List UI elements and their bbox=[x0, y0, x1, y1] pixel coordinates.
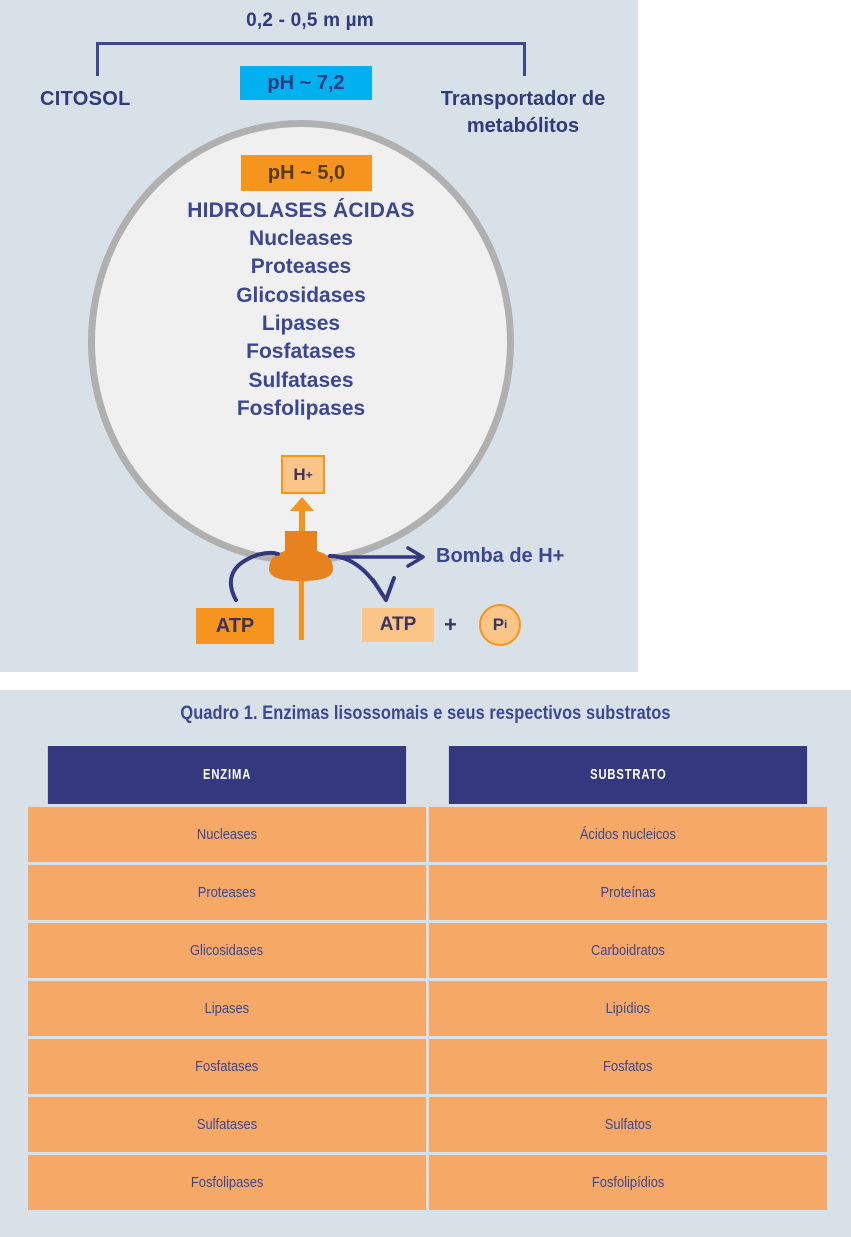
table-header-row: ENZIMA SUBSTRATO bbox=[28, 746, 827, 804]
scale-label: 0,2 - 0,5 m µm bbox=[0, 10, 620, 32]
cell-text: Lipases bbox=[205, 1000, 249, 1017]
pi-label: P bbox=[493, 615, 504, 635]
plus-sign: + bbox=[444, 612, 457, 638]
table-row: Fosfolipases Fosfolipídios bbox=[28, 1155, 827, 1210]
inorganic-phosphate-badge: Pi bbox=[479, 604, 521, 646]
enzyme-list-title: HIDROLASES ÁCIDAS bbox=[88, 197, 514, 225]
table-cell-substrato: Sulfatos bbox=[429, 1097, 827, 1152]
pi-subscript: i bbox=[504, 619, 507, 631]
table-cell-substrato: Ácidos nucleicos bbox=[429, 807, 827, 862]
cell-text: Proteases bbox=[198, 884, 256, 901]
cell-text: Carboidratos bbox=[591, 942, 665, 959]
enzyme-table-panel: Quadro 1. Enzimas lisossomais e seus res… bbox=[0, 690, 851, 1237]
enzyme-item-proteases: Proteases bbox=[88, 253, 514, 281]
enzyme-item-fosfolipases: Fosfolipases bbox=[88, 395, 514, 423]
table-cell-enzima: Lipases bbox=[28, 981, 426, 1036]
ph-cytosol-badge: pH ~ 7,2 bbox=[240, 66, 372, 100]
table-row: Proteases Proteínas bbox=[28, 865, 827, 920]
table-header-enzima-label: ENZIMA bbox=[203, 767, 251, 783]
proton-pump-label: Bomba de H+ bbox=[436, 545, 564, 568]
cell-text: Fosfolipídios bbox=[592, 1174, 664, 1191]
table-cell-enzima: Sulfatases bbox=[28, 1097, 426, 1152]
cell-text: Glicosidases bbox=[190, 942, 263, 959]
proton-charge: + bbox=[306, 468, 313, 482]
table-header-substrato: SUBSTRATO bbox=[449, 746, 807, 804]
cytosol-label: CITOSOL bbox=[40, 88, 131, 111]
enzyme-item-fosfatases: Fosfatases bbox=[88, 338, 514, 366]
table-header-enzima: ENZIMA bbox=[48, 746, 406, 804]
cell-text: Sulfatases bbox=[197, 1116, 257, 1133]
ph-lumen-badge: pH ~ 5,0 bbox=[241, 155, 372, 191]
cell-text: Ácidos nucleicos bbox=[580, 826, 676, 843]
enzyme-item-sulfatases: Sulfatases bbox=[88, 367, 514, 395]
table-cell-enzima: Glicosidases bbox=[28, 923, 426, 978]
table-cell-substrato: Lipídios bbox=[429, 981, 827, 1036]
cell-text: Lipídios bbox=[606, 1000, 650, 1017]
table-header-substrato-label: SUBSTRATO bbox=[590, 767, 666, 783]
enzyme-list: HIDROLASES ÁCIDAS Nucleases Proteases Gl… bbox=[88, 197, 514, 423]
enzyme-item-glicosidases: Glicosidases bbox=[88, 282, 514, 310]
table-row: Nucleases Ácidos nucleicos bbox=[28, 807, 827, 862]
table-cell-enzima: Proteases bbox=[28, 865, 426, 920]
atp-output-badge: ATP bbox=[362, 608, 434, 642]
cell-text: Fosfatos bbox=[603, 1058, 652, 1075]
cell-text: Nucleases bbox=[197, 826, 257, 843]
table-row: Glicosidases Carboidratos bbox=[28, 923, 827, 978]
table-cell-substrato: Proteínas bbox=[429, 865, 827, 920]
cell-text: Fosfolipases bbox=[191, 1174, 263, 1191]
table-caption: Quadro 1. Enzimas lisossomais e seus res… bbox=[68, 702, 783, 725]
enzyme-substrate-table: ENZIMA SUBSTRATO Nucleases Ácidos nuclei… bbox=[25, 743, 830, 1213]
table-row: Fosfatases Fosfatos bbox=[28, 1039, 827, 1094]
table-row: Lipases Lipídios bbox=[28, 981, 827, 1036]
table-cell-enzima: Nucleases bbox=[28, 807, 426, 862]
cell-text: Sulfatos bbox=[605, 1116, 652, 1133]
metabolite-transporter-label: Transportador de metabólitos bbox=[418, 86, 628, 140]
proton-pump-icon bbox=[269, 531, 333, 581]
proton-label: H bbox=[293, 465, 305, 485]
table-cell-enzima: Fosfolipases bbox=[28, 1155, 426, 1210]
cell-text: Proteínas bbox=[600, 884, 655, 901]
lysosome-diagram-panel: 0,2 - 0,5 m µm CITOSOL Transportador de … bbox=[0, 0, 638, 672]
table-cell-substrato: Fosfolipídios bbox=[429, 1155, 827, 1210]
table-cell-enzima: Fosfatases bbox=[28, 1039, 426, 1094]
atp-input-badge: ATP bbox=[196, 608, 274, 644]
proton-badge: H+ bbox=[281, 455, 325, 494]
enzyme-item-lipases: Lipases bbox=[88, 310, 514, 338]
table-cell-substrato: Carboidratos bbox=[429, 923, 827, 978]
enzyme-item-nucleases: Nucleases bbox=[88, 225, 514, 253]
table-cell-substrato: Fosfatos bbox=[429, 1039, 827, 1094]
cell-text: Fosfatases bbox=[195, 1058, 258, 1075]
table-row: Sulfatases Sulfatos bbox=[28, 1097, 827, 1152]
